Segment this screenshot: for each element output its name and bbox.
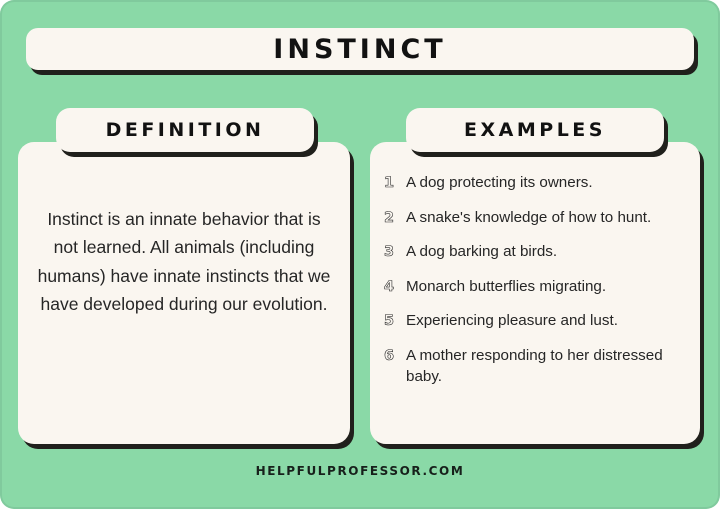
list-item-number: 1	[384, 173, 406, 194]
list-item-number: 5	[384, 311, 406, 332]
list-item: 3 A dog barking at birds.	[384, 241, 686, 263]
list-item-label: A dog protecting its owners.	[406, 172, 686, 194]
examples-badge-label: EXAMPLES	[464, 121, 606, 140]
list-item-number: 2	[384, 208, 406, 229]
definition-badge: DEFINITION	[56, 108, 314, 152]
list-item-label: Experiencing pleasure and lust.	[406, 310, 686, 332]
definition-text: Instinct is an innate behavior that is n…	[18, 205, 350, 318]
page-title: INSTINCT	[273, 36, 446, 63]
examples-list: 1 A dog protecting its owners. 2 A snake…	[370, 172, 700, 388]
list-item: 1 A dog protecting its owners.	[384, 172, 686, 194]
examples-badge: EXAMPLES	[406, 108, 664, 152]
list-item-number: 4	[384, 277, 406, 298]
list-item: 6 A mother responding to her distressed …	[384, 345, 686, 388]
list-item-label: A snake's knowledge of how to hunt.	[406, 207, 686, 229]
list-item-number: 3	[384, 242, 406, 263]
site-attribution: HELPFULPROFESSOR.COM	[256, 464, 465, 478]
list-item-label: A dog barking at birds.	[406, 241, 686, 263]
footer: HELPFULPROFESSOR.COM	[0, 462, 720, 480]
list-item: 2 A snake's knowledge of how to hunt.	[384, 207, 686, 229]
list-item-label: A mother responding to her distressed ba…	[406, 345, 686, 388]
definition-badge-label: DEFINITION	[106, 121, 265, 140]
list-item-number: 6	[384, 346, 406, 367]
list-item: 4 Monarch butterflies migrating.	[384, 276, 686, 298]
infographic-canvas: INSTINCT DEFINITION EXAMPLES Instinct is…	[0, 0, 720, 509]
list-item-label: Monarch butterflies migrating.	[406, 276, 686, 298]
title-banner: INSTINCT	[26, 28, 694, 70]
list-item: 5 Experiencing pleasure and lust.	[384, 310, 686, 332]
